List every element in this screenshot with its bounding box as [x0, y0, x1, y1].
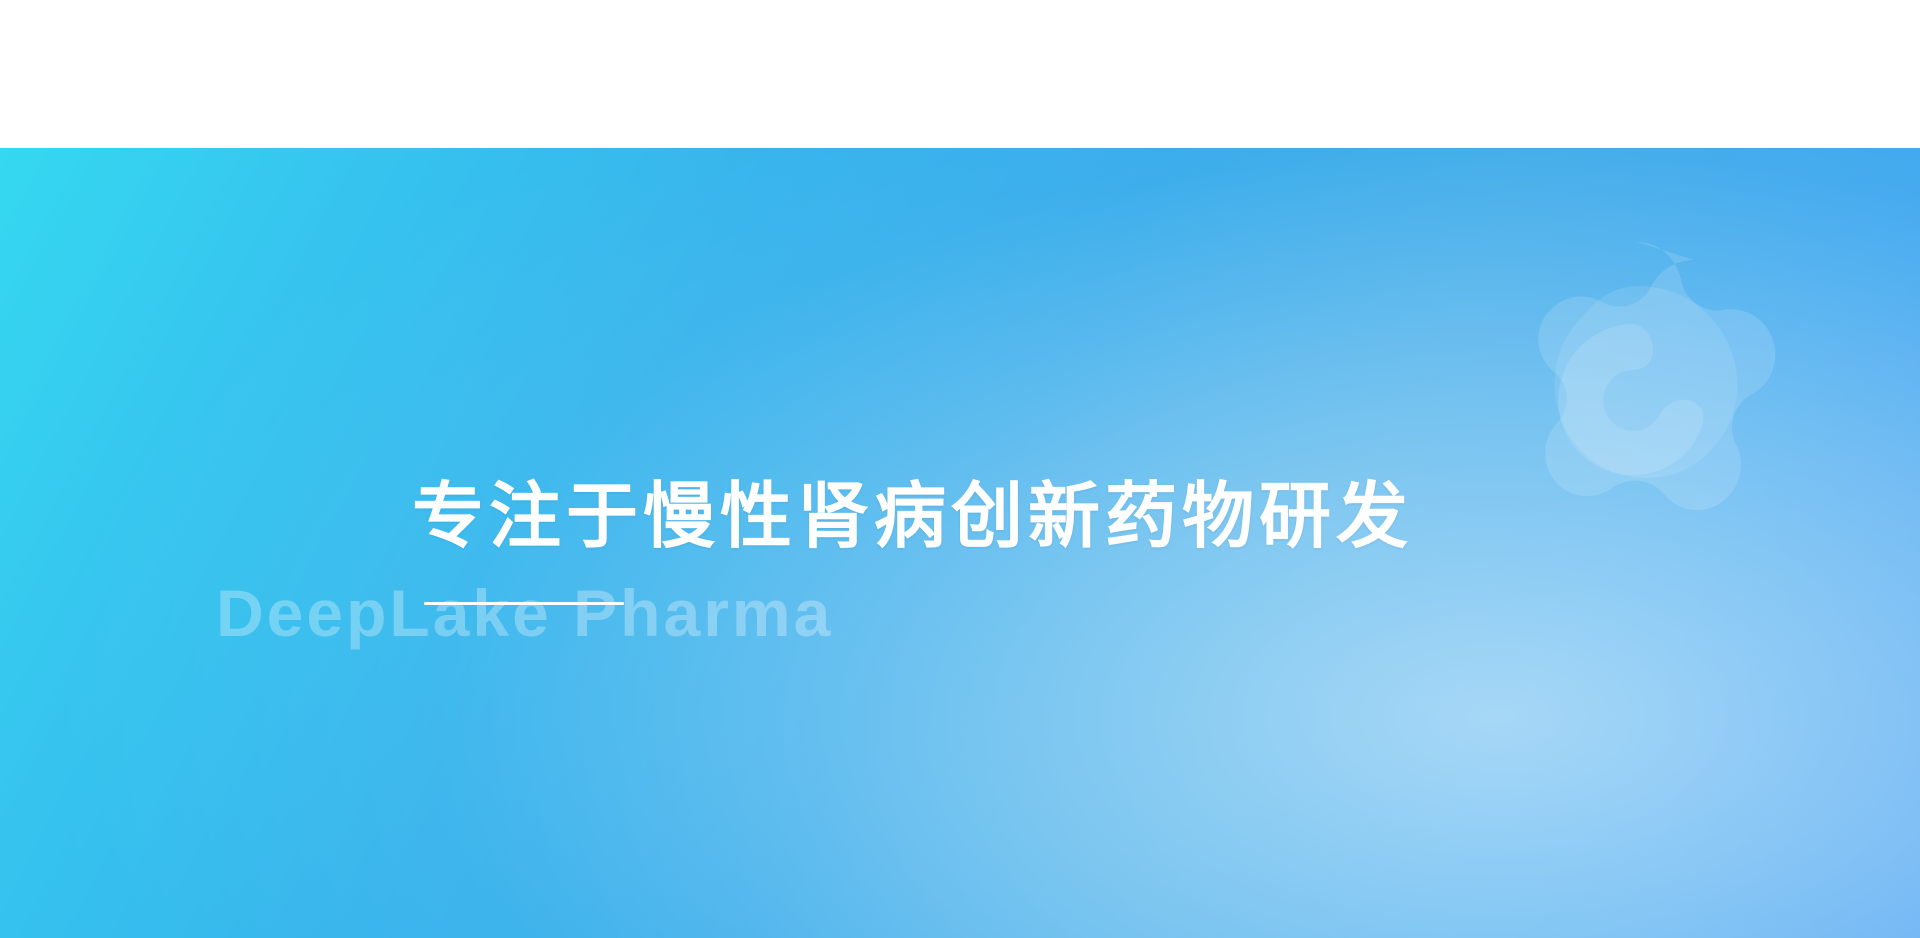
hero-copy: 专注于慢性肾病创新药物研发	[0, 148, 1920, 938]
hero-banner: DeepLake Pharma 专注于慢性肾病创新药物研发	[0, 148, 1920, 938]
page-root: DeepLake Pharma 专注于慢性肾病创新药物研发	[0, 0, 1920, 938]
hero-title-divider	[424, 602, 624, 605]
hero-title: 专注于慢性肾病创新药物研发	[412, 478, 1413, 557]
top-white-band	[0, 0, 1920, 148]
